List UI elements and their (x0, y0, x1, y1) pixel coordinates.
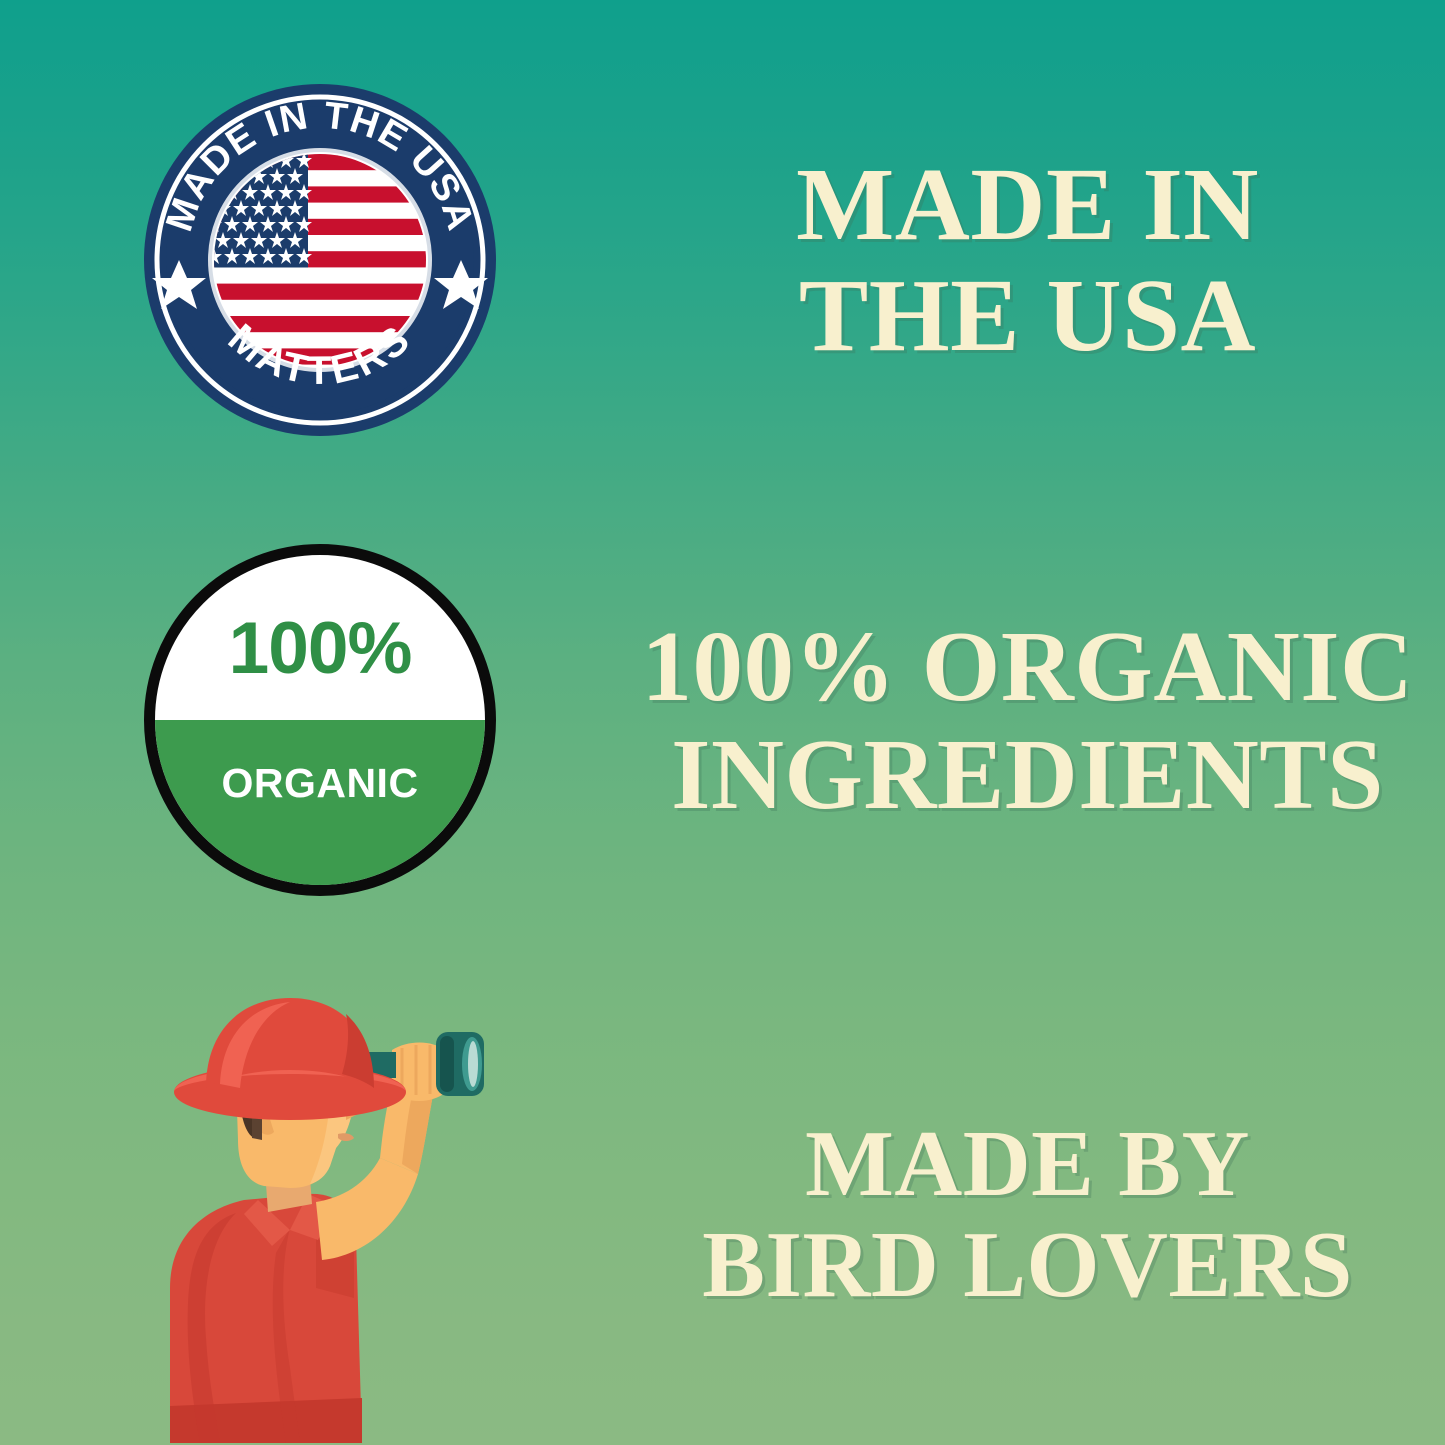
headline-line: 100% ORGANIC (642, 612, 1414, 720)
made-in-usa-headline-container: MADE IN THE USA (640, 149, 1445, 372)
organic-percent-label: 100% (155, 607, 485, 690)
product-feature-poster: MADE IN THE USA MATTERS MADE IN THE USA (0, 0, 1445, 1445)
birdwatcher-icon (140, 988, 500, 1443)
headline-line: THE USA (796, 260, 1259, 371)
organic-badge-container: 100% ORGANIC (0, 544, 640, 896)
feature-row-organic: 100% ORGANIC 100% ORGANIC INGREDIENTS (0, 500, 1445, 940)
made-in-usa-seal-icon: MADE IN THE USA MATTERS (142, 82, 498, 438)
headline-line: BIRD LOVERS (702, 1215, 1353, 1316)
organic-word-label: ORGANIC (155, 760, 485, 807)
feature-row-made-in-usa: MADE IN THE USA MATTERS MADE IN THE USA (0, 40, 1445, 480)
feature-row-bird-lovers: MADE BY BIRD LOVERS (0, 985, 1445, 1445)
headline-line: MADE BY (702, 1114, 1353, 1215)
organic-seal-icon: 100% ORGANIC (144, 544, 496, 896)
headline-line: INGREDIENTS (642, 720, 1414, 828)
headline-bird-lovers: MADE BY BIRD LOVERS (702, 1114, 1353, 1315)
headline-line: MADE IN (796, 149, 1259, 260)
made-in-usa-badge-container: MADE IN THE USA MATTERS (0, 82, 640, 438)
bird-lovers-headline-container: MADE BY BIRD LOVERS (640, 1114, 1445, 1315)
birdwatcher-illustration-container (0, 988, 640, 1443)
headline-organic-ingredients: 100% ORGANIC INGREDIENTS (642, 612, 1414, 828)
organic-headline-container: 100% ORGANIC INGREDIENTS (640, 612, 1445, 828)
headline-made-in-usa: MADE IN THE USA (796, 149, 1259, 372)
